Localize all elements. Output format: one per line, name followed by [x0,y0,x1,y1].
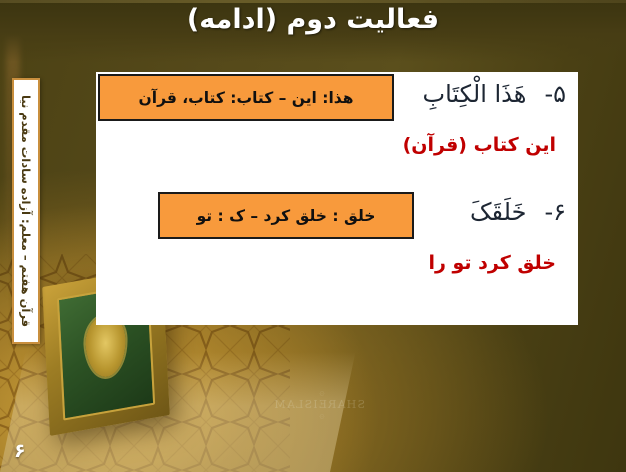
arabic-phrase-line: ۶-خَلَقَکَ [470,198,566,226]
arabic-phrase-line: ۵-هَذَا الْكِتَابِ [423,80,567,108]
row-number: ۵- [544,80,566,108]
arabic-phrase: خَلَقَکَ [470,198,526,226]
top-accent-line [0,0,626,3]
arabic-phrase: هَذَا الْكِتَابِ [423,80,527,108]
page-title: فعالیت دوم (ادامه) [0,4,626,35]
persian-translation: این کتاب (قرآن) [403,134,556,156]
page-number: ۶ [14,440,26,462]
content-panel: ۵-هَذَا الْكِتَابِ این کتاب (قرآن) هذا: … [96,72,578,325]
sidebar-teacher-banner: قرآن هفتم – معلم: آزاده سادات مقدم نیا [12,78,40,344]
vocab-callout-box: خلق : خلق کرد – ک : تو [158,192,414,239]
sidebar-teacher-label: قرآن هفتم – معلم: آزاده سادات مقدم نیا [19,95,33,327]
vocab-callout-box: هذا: این – كتاب: کتاب، قرآن [98,74,394,121]
persian-translation: خلق کرد تو را [428,252,556,274]
row-number: ۶- [544,198,566,226]
slide-canvas: فعالیت دوم (ادامه) قرآن هفتم – معلم: آزا… [0,0,626,472]
